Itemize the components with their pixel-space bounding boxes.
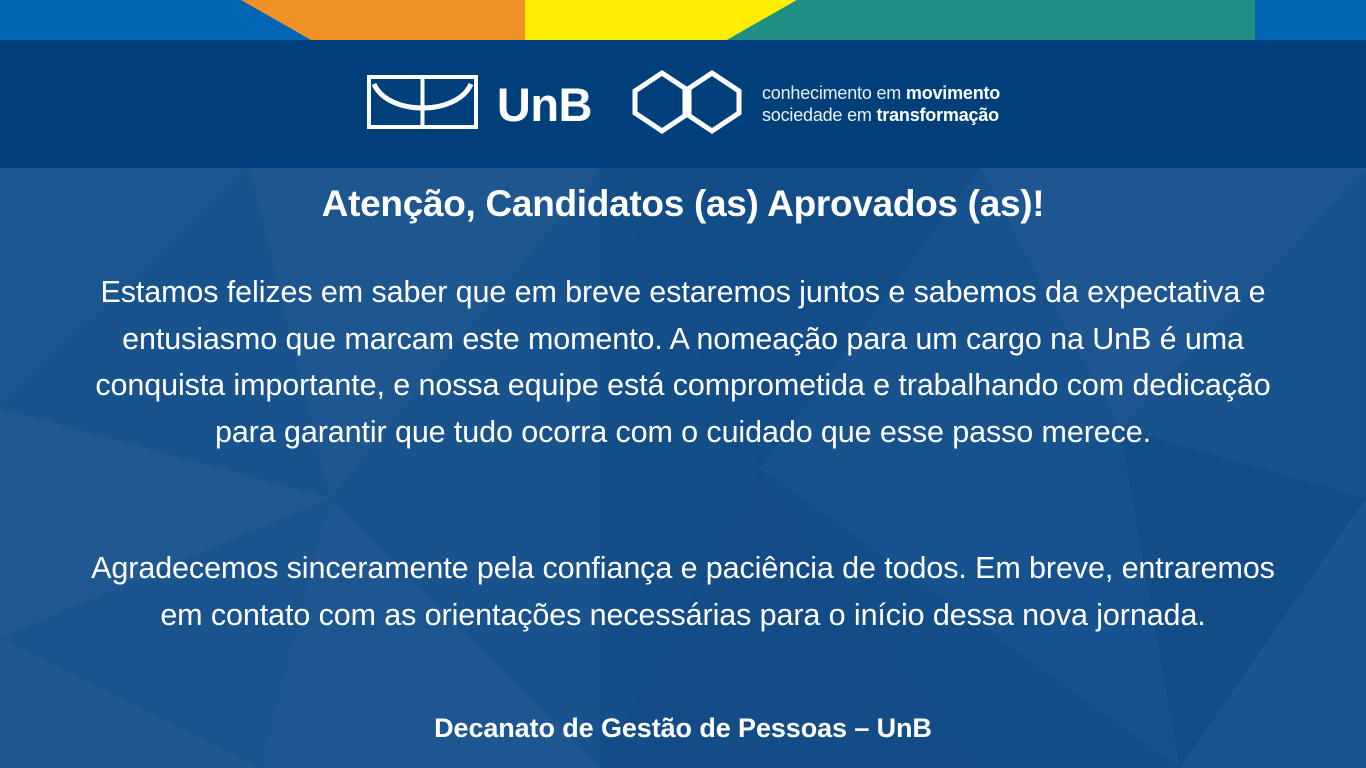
- announcement-poster: UnB conhecimento em movimento sociedade …: [0, 0, 1366, 768]
- header-logo-band: UnB conhecimento em movimento sociedade …: [0, 40, 1366, 168]
- tagline-line1-bold: movimento: [906, 83, 1000, 103]
- tagline-line1-em: em: [876, 83, 901, 103]
- message-body: Atenção, Candidatos (as) Aprovados (as)!…: [0, 168, 1366, 768]
- infinity-hexagon-icon: [632, 69, 742, 140]
- message-paragraph-2: Agradecemos sinceramente pela confiança …: [76, 545, 1291, 638]
- message-content: Atenção, Candidatos (as) Aprovados (as)!…: [0, 168, 1366, 768]
- institutional-tagline: conhecimento em movimento sociedade em t…: [762, 82, 1000, 127]
- unb-logo-lockup: UnB: [366, 74, 592, 135]
- tagline-line2-light: sociedade: [762, 105, 842, 125]
- unb-emblem-icon: [366, 74, 479, 135]
- signature-line: Decanato de Gestão de Pessoas – UnB: [434, 713, 932, 744]
- tagline-line2-em: em: [847, 105, 872, 125]
- tagline-line1-light: conhecimento: [762, 83, 872, 103]
- tagline-line2-bold: transformação: [876, 105, 998, 125]
- logo-row: UnB conhecimento em movimento sociedade …: [366, 69, 1000, 140]
- colorbar-segment-teal: [727, 0, 1255, 40]
- decorative-color-bar: [0, 0, 1366, 40]
- page-title: Atenção, Candidatos (as) Aprovados (as)!: [322, 184, 1045, 225]
- message-paragraph-1: Estamos felizes em saber que em breve es…: [76, 269, 1291, 454]
- unb-wordmark: UnB: [497, 81, 592, 128]
- tagline-lockup: conhecimento em movimento sociedade em t…: [632, 69, 1000, 140]
